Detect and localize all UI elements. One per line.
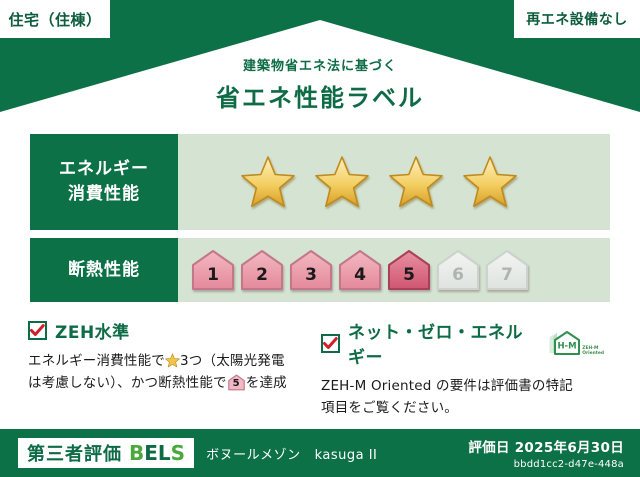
star-icon-3	[388, 155, 444, 209]
bels-logo-b: B	[129, 441, 144, 465]
criterion-zeh-text-part1: エネルギー消費性能で	[28, 353, 165, 369]
building-name: ボヌールメゾンkasuga II	[206, 444, 377, 463]
zeh-m-logo-line2: Oriented	[582, 351, 604, 356]
zeh-m-house-icon: H-M	[546, 330, 580, 356]
star-icon-inline	[165, 353, 180, 368]
zeh-m-logo: H-M ZEH-M Oriented	[546, 330, 604, 356]
energy-performance-label-line2: 消費性能	[68, 182, 140, 207]
building-type-tag: 住宅（住棟）	[0, 0, 110, 38]
page-title: 省エネ性能ラベル	[0, 78, 640, 113]
building-type-tag-label: 住宅（住棟）	[8, 9, 101, 30]
renewable-equipment-tag: 再エネ設備なし	[514, 0, 640, 38]
building-name-en: kasuga II	[315, 448, 378, 463]
insulation-grade-6: 6	[435, 248, 481, 292]
insulation-grade-2-value: 2	[256, 265, 268, 292]
svg-text:H-M: H-M	[558, 342, 577, 352]
insulation-grade-scale: 1 2 3 4 5 6 7	[178, 238, 610, 302]
insulation-grade-7: 7	[484, 248, 530, 292]
evaluation-date: 評価日 2025年6月30日	[468, 436, 624, 456]
insulation-badge-value: 5	[227, 374, 246, 391]
insulation-grade-5-value: 5	[403, 265, 415, 292]
criterion-zeh-text-part3: は考慮しない）、かつ断熱性能で	[28, 375, 227, 391]
criterion-net-zero-title: ネット・ゼロ・エネルギー	[348, 318, 532, 368]
insulation-grade-4: 4	[337, 248, 383, 292]
criterion-zeh-level-header: ZEH水準	[28, 318, 311, 343]
evaluation-id: bbdd1cc2-d47e-448a	[468, 459, 624, 470]
star-icon-4	[462, 155, 518, 209]
insulation-grade-3: 3	[288, 248, 334, 292]
renewable-equipment-tag-label: 再エネ設備なし	[526, 9, 628, 29]
building-name-jp: ボヌールメゾン	[206, 448, 301, 463]
star-icon-1	[240, 155, 296, 209]
star-icon-2	[314, 155, 370, 209]
checkbox-checked-icon-netzero	[321, 334, 340, 353]
criterion-net-zero-text-line2: 項目をご覧ください。	[321, 400, 458, 416]
insulation-grade-3-value: 3	[305, 265, 317, 292]
insulation-performance-label-text: 断熱性能	[68, 258, 140, 283]
bels-logo-l: L	[158, 441, 171, 465]
energy-performance-label-line1: エネルギー	[59, 157, 149, 182]
criterion-net-zero-text-line1: ZEH-M Oriented の要件は評価書の特記	[321, 378, 573, 394]
insulation-grade-5-current: 5	[386, 248, 432, 292]
evaluation-info: 評価日 2025年6月30日 bbdd1cc2-d47e-448a	[468, 436, 624, 470]
insulation-grade-1: 1	[190, 248, 236, 292]
criterion-zeh-level-title: ZEH水準	[55, 318, 130, 343]
insulation-performance-row: 断熱性能 1 2 3 4 5	[30, 238, 610, 302]
energy-performance-row: エネルギー 消費性能	[30, 134, 610, 230]
title-block: 建築物省エネ法に基づく 省エネ性能ラベル	[0, 55, 640, 113]
insulation-grade-6-value: 6	[452, 265, 464, 292]
criterion-net-zero-header: ネット・ゼロ・エネルギー H-M ZEH-M Oriented	[321, 318, 604, 368]
criterion-zeh-text-part2: 3つ（太陽光発電	[180, 353, 285, 369]
bels-badge: 第三者評価 BELS	[18, 438, 194, 468]
criterion-zeh-level: ZEH水準 エネルギー消費性能で 3つ（太陽光発電 は考慮しない）、かつ断熱性能…	[28, 318, 321, 414]
bels-logo-e: E	[144, 441, 158, 465]
insulation-grade-7-value: 7	[501, 265, 513, 292]
energy-performance-label: エネルギー 消費性能	[30, 134, 178, 230]
criteria-section: ZEH水準 エネルギー消費性能で 3つ（太陽光発電 は考慮しない）、かつ断熱性能…	[28, 318, 614, 414]
criterion-net-zero-text: ZEH-M Oriented の要件は評価書の特記 項目をご覧ください。	[321, 375, 604, 420]
criterion-zeh-text-part4: を達成	[246, 375, 287, 391]
checkbox-checked-icon-zeh	[28, 321, 47, 340]
bels-logo: BELS	[129, 441, 185, 465]
energy-star-rating	[178, 134, 610, 230]
bels-third-party-label: 第三者評価	[27, 440, 122, 466]
insulation-grade-4-value: 4	[354, 265, 366, 292]
criterion-zeh-level-text: エネルギー消費性能で 3つ（太陽光発電 は考慮しない）、かつ断熱性能で 5 を達…	[28, 350, 311, 395]
insulation-badge-icon-inline: 5	[227, 374, 246, 391]
criterion-net-zero-energy: ネット・ゼロ・エネルギー H-M ZEH-M Oriented ZEH-M Or…	[321, 318, 614, 414]
bels-logo-s: S	[171, 441, 185, 465]
insulation-grade-2: 2	[239, 248, 285, 292]
insulation-grade-1-value: 1	[207, 265, 219, 292]
title-subtitle: 建築物省エネ法に基づく	[0, 55, 640, 74]
footer-bar: 第三者評価 BELS ボヌールメゾンkasuga II 評価日 2025年6月3…	[0, 429, 640, 477]
insulation-performance-label: 断熱性能	[30, 238, 178, 302]
